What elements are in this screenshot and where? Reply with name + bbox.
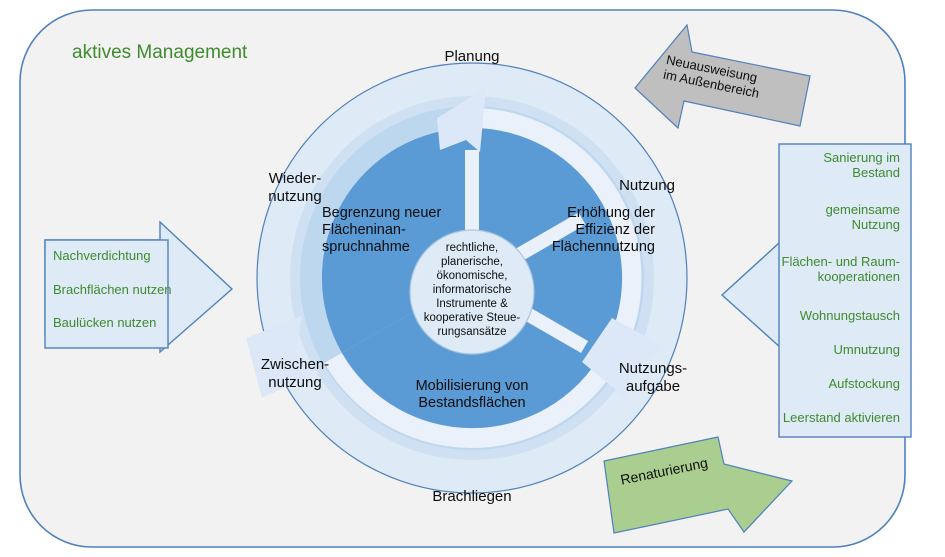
ring-label-nutzung: Nutzung	[592, 177, 702, 195]
right-box-item-6: Leerstand aktivieren	[778, 410, 900, 425]
diagram-canvas: aktives Management Nachverdichtung Brach…	[0, 0, 945, 557]
ring-label-wiedernutzung: Wieder- nutzung	[240, 170, 350, 205]
right-box-item-5: Aufstockung	[782, 376, 900, 391]
right-box[interactable]: Sanierung im Bestand gemeinsame Nutzung …	[781, 146, 906, 435]
left-box-item-2: Baulücken nutzen	[53, 315, 156, 330]
right-box-item-3: Wohnungstausch	[782, 308, 900, 323]
left-box[interactable]: Nachverdichtung Brachflächen nutzen Baul…	[48, 243, 166, 345]
right-box-item-4: Umnutzung	[782, 342, 900, 357]
hub-label: rechtliche, planerische, ökonomische, in…	[407, 241, 537, 339]
left-box-item-0: Nachverdichtung	[53, 248, 151, 263]
gray-arrow-label-wrap: Neuausweisung im Außenbereich	[662, 52, 815, 112]
green-arrow-label-wrap: Renaturierung	[619, 440, 779, 488]
right-box-item-1: gemeinsame Nutzung	[782, 202, 900, 233]
green-arrow-label: Renaturierung	[619, 440, 779, 488]
gray-arrow-label: Neuausweisung im Außenbereich	[662, 52, 815, 112]
ring-label-zwischennutzung: Zwischen- nutzung	[240, 356, 350, 391]
ring-label-brachliegen: Brachliegen	[412, 488, 532, 506]
ring-label-nutzungsaufgabe: Nutzungs- aufgabe	[598, 360, 708, 395]
page-title: aktives Management	[72, 42, 247, 64]
text-layer: aktives Management Nachverdichtung Brach…	[0, 0, 945, 557]
left-box-item-1: Brachflächen nutzen	[53, 282, 172, 297]
right-box-item-0: Sanierung im Bestand	[782, 150, 900, 181]
segment-label-mobilisierung: Mobilisierung von Bestandsflächen	[382, 378, 562, 412]
right-box-item-2: Flächen- und Raum- kooperationen	[778, 254, 900, 285]
ring-label-planung: Planung	[412, 48, 532, 66]
